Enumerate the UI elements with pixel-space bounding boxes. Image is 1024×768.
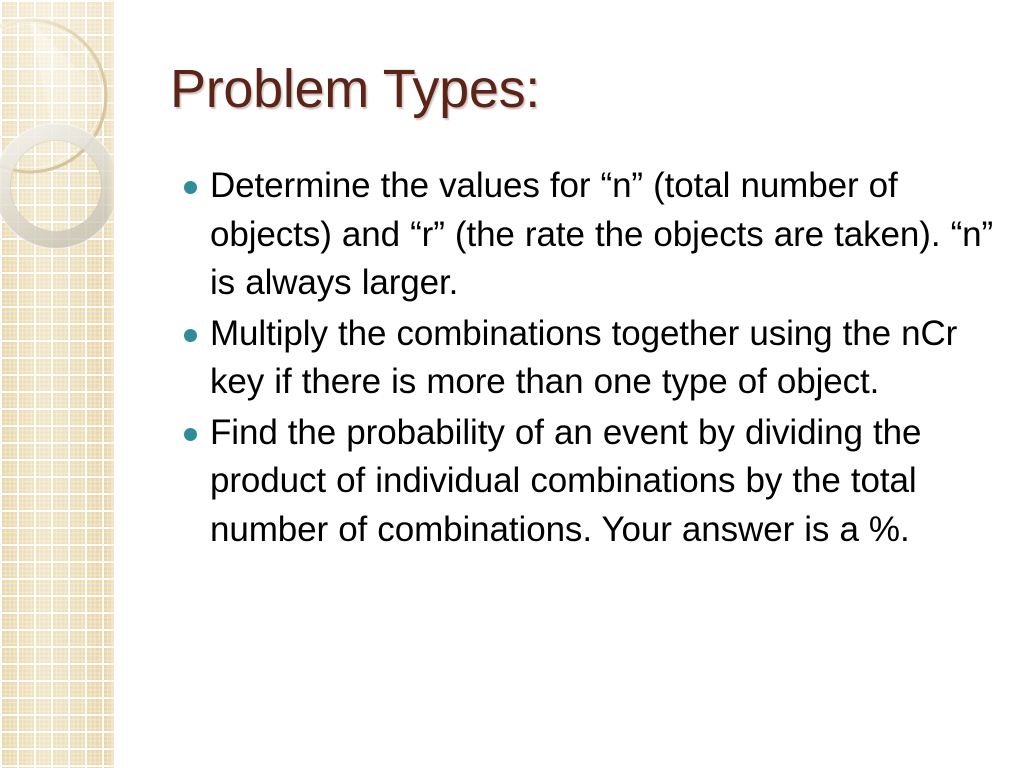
bullet-item-text: Find the probability of an event by divi… (210, 409, 1004, 555)
bullet-item-text: Determine the values for “n” (total numb… (210, 162, 1004, 308)
bullet-item-text: Multiply the combinations together using… (210, 310, 1004, 407)
bullet-item: Multiply the combinations together using… (176, 310, 1004, 407)
bullet-dot-icon (184, 428, 197, 441)
bullet-dot-icon (184, 329, 197, 342)
presentation-slide: Problem Types: Determine the values for … (0, 0, 1024, 768)
bullet-dot-icon (184, 181, 197, 194)
decorative-left-band (0, 0, 114, 768)
bullet-item: Determine the values for “n” (total numb… (176, 162, 1004, 308)
bullet-item: Find the probability of an event by divi… (176, 409, 1004, 555)
slide-title: Problem Types: (170, 58, 980, 120)
slide-body-bullet-list: Determine the values for “n” (total numb… (176, 162, 1004, 556)
decorative-rings-graphic (0, 0, 114, 768)
